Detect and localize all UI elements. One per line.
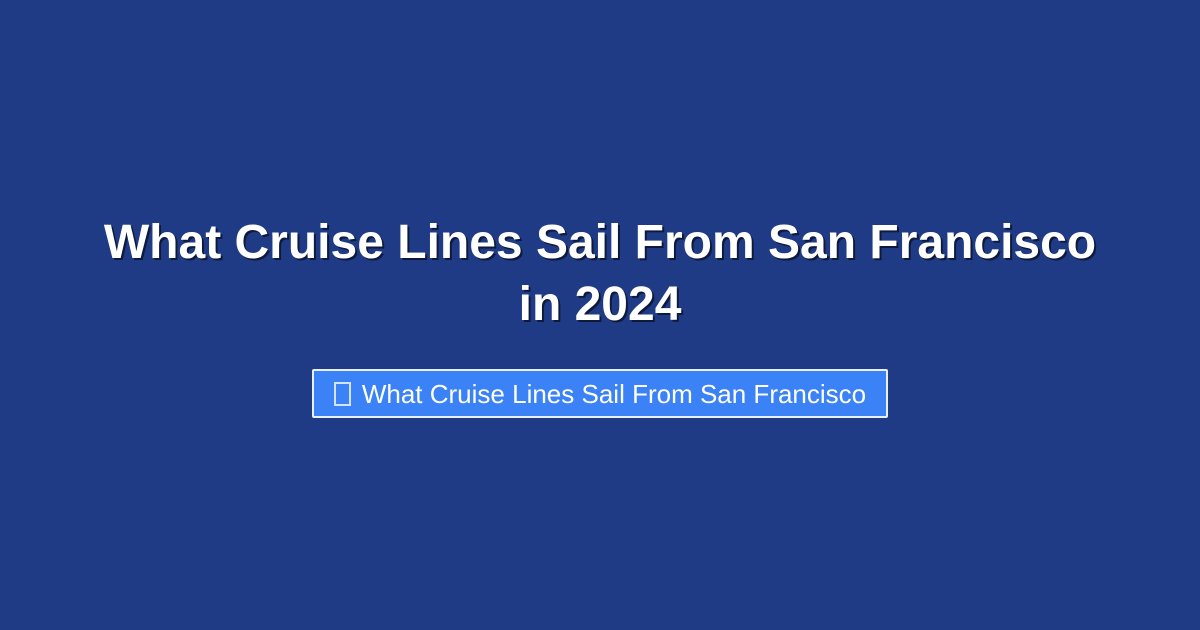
cta-button[interactable]: What Cruise Lines Sail From San Francisc…: [312, 369, 888, 418]
cta-button-label: What Cruise Lines Sail From San Francisc…: [362, 379, 866, 409]
page-title: What Cruise Lines Sail From San Francisc…: [100, 212, 1100, 336]
missing-glyph-box-icon: [334, 382, 351, 406]
cta-container: What Cruise Lines Sail From San Francisc…: [312, 369, 888, 418]
card-content: What Cruise Lines Sail From San Francisc…: [0, 0, 1200, 630]
social-share-card: What Cruise Lines Sail From San Francisc…: [0, 0, 1200, 630]
